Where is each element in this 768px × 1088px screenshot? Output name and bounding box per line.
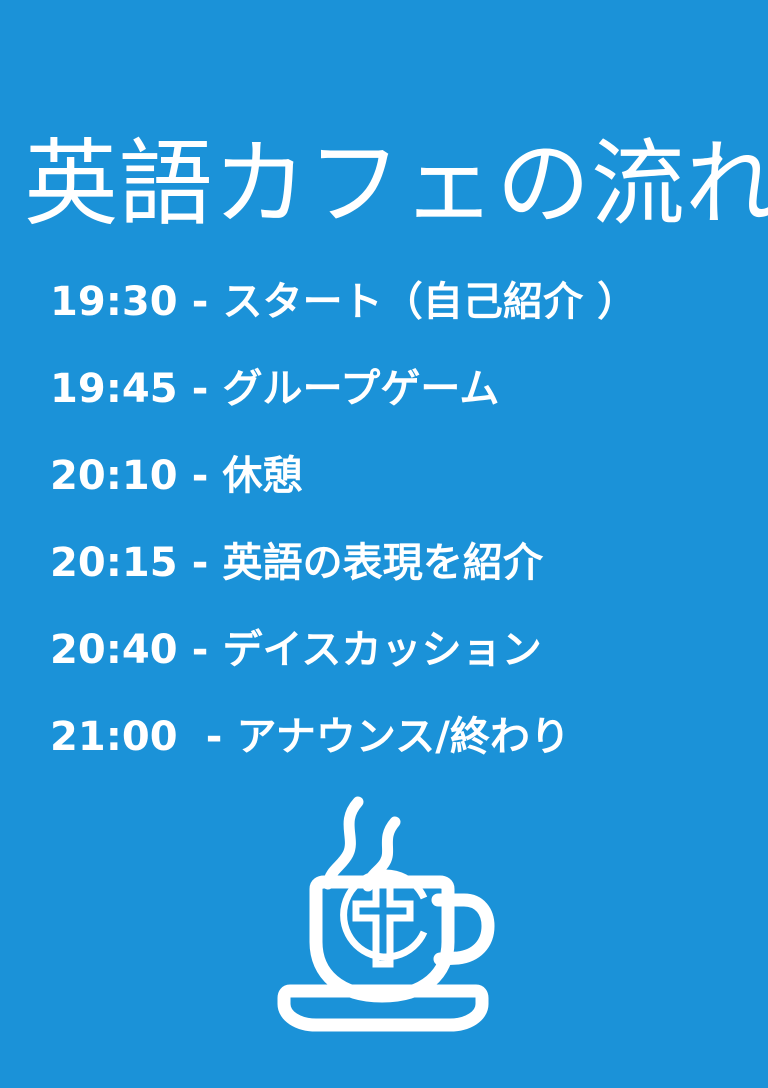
schedule-item: 19:45 - グループゲーム: [50, 345, 750, 432]
schedule-separator: -: [178, 369, 223, 409]
steam-left-icon: [328, 802, 358, 884]
schedule-item: 20:40 - デイスカッション: [50, 606, 750, 693]
schedule-separator: -: [178, 543, 223, 583]
cup-body-icon: [316, 882, 448, 996]
schedule-item: 20:10 - 休憩: [50, 432, 750, 519]
schedule-time: 21:00: [50, 717, 178, 757]
schedule-label: 休憩: [222, 456, 302, 496]
schedule-time: 20:40: [50, 630, 178, 670]
coffee-cup-cross-icon: [268, 792, 500, 1032]
schedule-label: アナウンス/終わり: [236, 717, 570, 757]
page-title: 英語カフェの流れ: [24, 135, 754, 235]
schedule-time: 19:45: [50, 369, 178, 409]
schedule-item: 21:00 - アナウンス/終わり: [50, 693, 750, 780]
schedule-label: デイスカッション: [222, 630, 541, 670]
schedule-label: グループゲーム: [222, 369, 499, 409]
schedule-separator: -: [178, 630, 223, 670]
schedule-label: 英語の表現を紹介: [222, 543, 543, 583]
schedule-time: 20:10: [50, 456, 178, 496]
schedule-time: 19:30: [50, 282, 178, 322]
schedule-item: 20:15 - 英語の表現を紹介: [50, 519, 750, 606]
poster-canvas: 英語カフェの流れ 19:30 - スタート（自己紹介 ） 19:45 - グルー…: [0, 0, 768, 1088]
schedule-time: 20:15: [50, 543, 178, 583]
schedule-separator: -: [178, 456, 223, 496]
coffee-cup-cross-logo: [268, 792, 500, 1032]
schedule-separator: -: [178, 717, 237, 757]
schedule-item: 19:30 - スタート（自己紹介 ）: [50, 258, 750, 345]
saucer-icon: [284, 991, 482, 1025]
schedule-separator: -: [178, 282, 223, 322]
schedule-list: 19:30 - スタート（自己紹介 ） 19:45 - グループゲーム 20:1…: [50, 258, 750, 780]
schedule-label: スタート（自己紹介 ）: [222, 282, 637, 322]
